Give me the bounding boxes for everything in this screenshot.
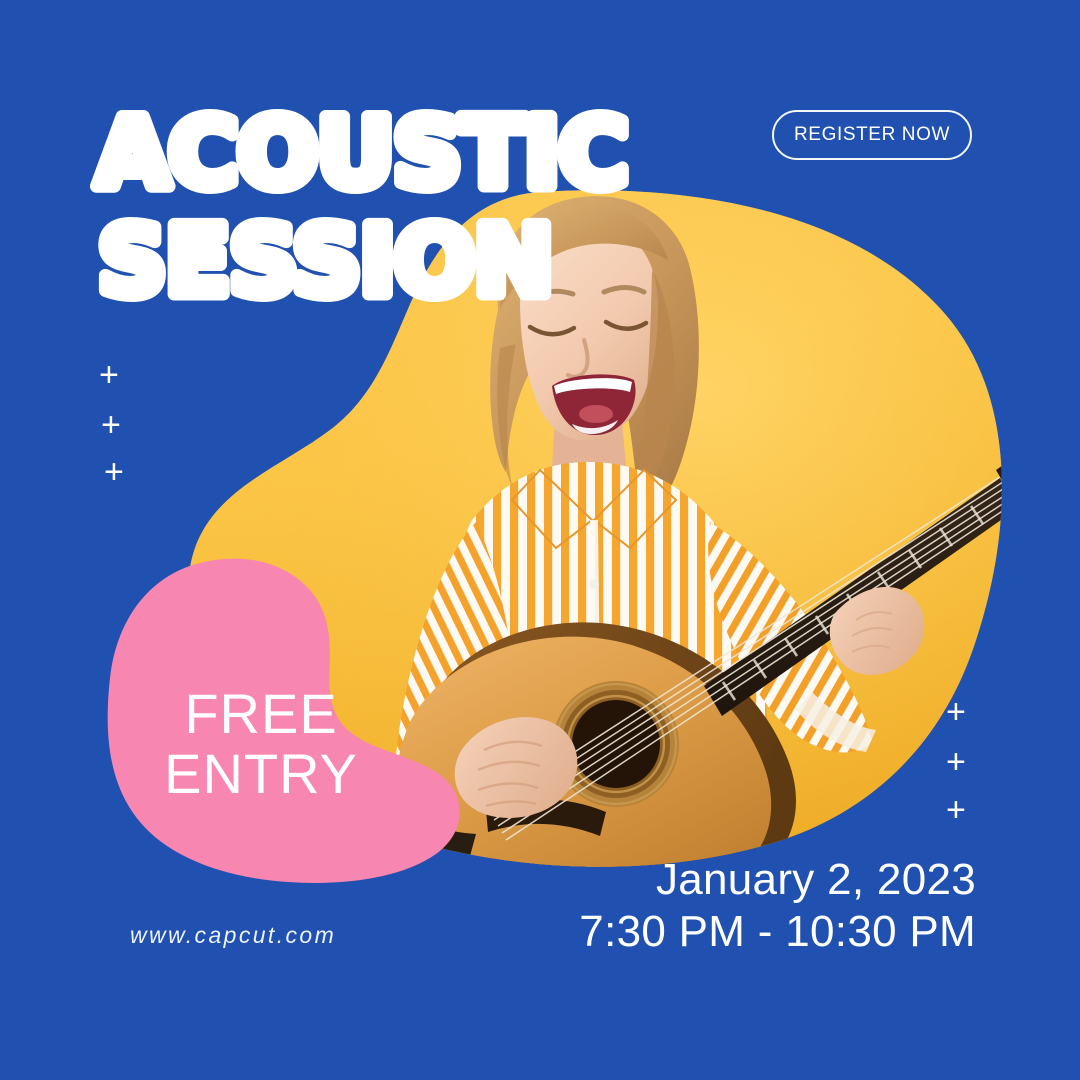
plus-icon-right-1: + bbox=[946, 695, 966, 729]
guitar-headstock bbox=[996, 442, 1052, 498]
tongue bbox=[579, 405, 613, 423]
plus-icon-left-3: + bbox=[104, 455, 124, 489]
shirt-button-1 bbox=[589, 579, 599, 589]
event-datetime: January 2, 2023 7:30 PM - 10:30 PM bbox=[579, 854, 976, 958]
poster-canvas: ACOUSTIC SESSION REGISTER NOW + + + + + … bbox=[0, 0, 1080, 1080]
free-entry-badge: FREE ENTRY bbox=[96, 556, 466, 886]
event-time: 7:30 PM - 10:30 PM bbox=[579, 906, 976, 958]
register-now-button[interactable]: REGISTER NOW bbox=[772, 110, 972, 160]
event-date: January 2, 2023 bbox=[579, 854, 976, 906]
plus-icon-left-1: + bbox=[99, 358, 119, 392]
plus-icon-right-3: + bbox=[946, 793, 966, 827]
pink-blob-shape bbox=[108, 559, 460, 883]
plus-icon-left-2: + bbox=[101, 408, 121, 442]
website-url[interactable]: www.capcut.com bbox=[130, 922, 336, 949]
plus-icon-right-2: + bbox=[946, 745, 966, 779]
